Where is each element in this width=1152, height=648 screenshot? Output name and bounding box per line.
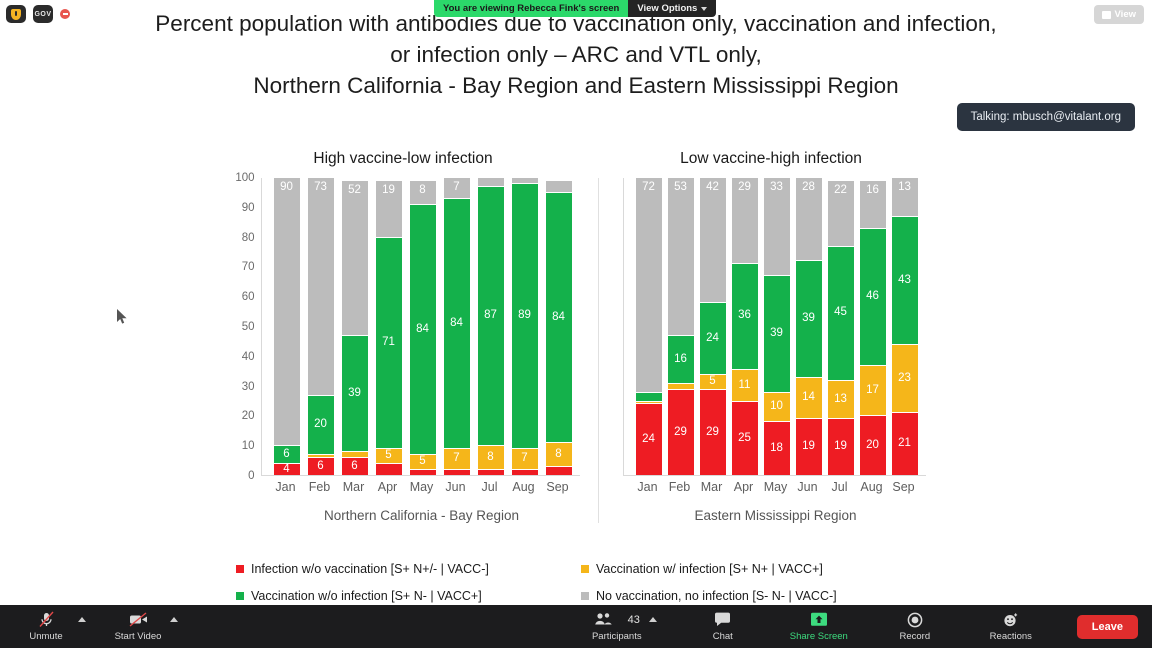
bar-value-label: 28 [802,182,815,194]
participants-button[interactable]: 43 Participants [587,611,647,642]
legend-label: Vaccination w/ infection [S+ N+ | VACC+] [596,562,823,576]
bar-segment: 8 [478,445,504,469]
bar-segment: 89 [512,183,538,448]
title-line-2: or infection only – ARC and VTL only, [80,39,1072,70]
bar-value-label: 22 [834,185,847,197]
bar-value-label: 73 [314,182,327,194]
bar-segment: 24 [700,302,726,374]
bar-value-label: 13 [898,182,911,194]
view-button[interactable]: View [1094,5,1144,24]
bar-value-label: 46 [866,291,879,303]
bar-value-label: 19 [382,185,395,197]
x-axis-tick: May [409,480,435,494]
bar-segment: 8 [410,180,436,204]
bar-value-label: 8 [487,452,493,464]
bar-value-label: 23 [898,373,911,385]
start-video-label: Start Video [115,631,162,642]
bar-segment: 16 [860,180,886,228]
chat-label: Chat [713,631,733,642]
bar-segment: 5 [376,448,402,463]
start-video-button[interactable]: Start Video [108,611,168,642]
bar-segment: 20 [860,415,886,475]
bar-segment: 22 [828,180,854,246]
chat-icon [714,611,731,628]
bar-stack[interactable]: 4224529 [700,177,726,475]
legend-swatch-icon [581,592,589,600]
floating-badges: GOV [6,5,70,23]
x-axis: JanFebMarAprMayJunJulAugSep [273,480,580,494]
x-axis-label: Eastern Mississippi Region [635,508,917,523]
bar-value-label: 5 [419,456,425,468]
chart-panels: High vaccine-low infection01020304050607… [0,150,1152,523]
bar-value-label: 71 [382,337,395,349]
legend-item: Vaccination w/ infection [S+ N+ | VACC+] [581,562,926,576]
x-axis-tick: Aug [511,480,537,494]
legend-label: Vaccination w/o infection [S+ N- | VACC+… [251,589,482,603]
y-axis-tick: 70 [242,261,255,273]
bar-value-label: 33 [770,182,783,194]
legend-label: Infection w/o vaccination [S+ N+/- | VAC… [251,562,489,576]
bar-segment: 11 [732,369,758,401]
bar-stack[interactable]: 29361125 [732,177,758,475]
bar-value-label: 18 [770,443,783,455]
bar-value-label: 7 [453,453,459,465]
view-button-label: View [1115,9,1136,20]
record-icon [907,611,923,628]
legend-label: No vaccination, no infection [S- N- | VA… [596,589,837,603]
bar-segment: 13 [892,177,918,216]
bar-value-label: 20 [866,440,879,452]
y-axis-tick: 40 [242,351,255,363]
bar-value-label: 84 [552,312,565,324]
bar-segment: 7 [444,177,470,198]
x-axis-tick: Jul [827,480,853,494]
bar-stack[interactable]: 73206 [308,177,334,475]
bar-segment: 71 [376,237,402,449]
bar-value-label: 20 [314,419,327,431]
bar-stack[interactable]: 19715 [376,177,402,475]
bar-stack[interactable]: 16461720 [860,177,886,475]
grid-view-icon [1102,11,1111,19]
bar-value-label: 25 [738,433,751,445]
bar-segment: 72 [636,177,662,392]
bar-value-label: 39 [348,388,361,400]
screen-share-banner: You are viewing Rebecca Fink's screen Vi… [434,0,716,17]
bar-segment: 4 [274,463,300,475]
bar-stack[interactable]: 7847 [444,177,470,475]
participants-icon: 43 [594,611,640,628]
recording-indicator-icon[interactable] [60,9,70,19]
bar-segment: 43 [892,216,918,344]
camera-off-icon [129,611,148,628]
legend-item: Vaccination w/o infection [S+ N- | VACC+… [236,589,581,603]
bar-segment: 87 [478,186,504,445]
y-axis-tick: 10 [242,440,255,452]
gov-badge-label: GOV [34,11,51,18]
bar-value-label: 13 [834,394,847,406]
bar-stack[interactable]: 878 [478,177,504,475]
bar-segment: 36 [732,263,758,369]
bar-segment: 52 [342,180,368,335]
y-axis-tick: 60 [242,291,255,303]
x-axis-tick: Mar [341,480,367,494]
x-axis-tick: Apr [375,480,401,494]
bar-segment: 7 [444,448,470,469]
screen-share-slide: GOV You are viewing Rebecca Fink's scree… [0,0,1152,648]
y-axis: 0102030405060708090100 [227,178,261,476]
legend-item: Infection w/o vaccination [S+ N+/- | VAC… [236,562,581,576]
reactions-label: Reactions [990,631,1032,642]
bar-value-label: 19 [802,441,815,453]
bar-value-label: 84 [450,318,463,330]
unmute-button[interactable]: Unmute [16,611,76,642]
chart-panel-1: High vaccine-low infection01020304050607… [227,150,580,523]
bar-stack[interactable]: 897 [512,177,538,475]
legend-item: No vaccination, no infection [S- N- | VA… [581,589,926,603]
bar-segment: 73 [308,177,334,395]
y-axis-tick: 0 [248,470,254,482]
bar-stack[interactable]: 9064 [274,177,300,475]
bar-segment: 29 [668,389,694,475]
chart-legend: Infection w/o vaccination [S+ N+/- | VAC… [0,562,1152,603]
x-axis-tick: Apr [731,480,757,494]
share-screen-button[interactable]: Share Screen [789,611,849,642]
video-options-chevron-icon[interactable] [170,617,178,622]
bar-value-label: 24 [706,333,719,345]
bar-value-label: 52 [348,185,361,197]
bar-value-label: 17 [866,385,879,397]
bar-value-label: 7 [453,182,459,194]
bar-value-label: 89 [518,310,531,322]
reactions-button[interactable]: Reactions [981,611,1041,642]
bar-segment: 13 [828,380,854,419]
bar-segment: 10 [764,392,790,422]
bar-segment: 20 [308,395,334,455]
bar-segment: 84 [444,198,470,448]
leave-button[interactable]: Leave [1077,615,1138,639]
bar-segment: 45 [828,246,854,380]
bar-segment: 53 [668,177,694,335]
bar-value-label: 29 [674,427,687,439]
security-shield-badge[interactable] [6,5,26,23]
bar-value-label: 90 [280,182,293,194]
bar-value-label: 42 [706,182,719,194]
bar-value-label: 11 [739,380,751,392]
x-axis-tick: Jun [795,480,821,494]
bar-segment: 18 [764,421,790,475]
bar-stack[interactable]: 7224 [636,177,662,475]
bar-segment: 23 [892,344,918,413]
view-options-label: View Options [637,3,697,14]
bar-stack[interactable]: 531629 [668,177,694,475]
legend-swatch-icon [581,565,589,573]
bar-segment: 39 [342,335,368,451]
title-line-3: Northern California - Bay Region and Eas… [80,70,1072,101]
bar-segment [546,180,572,192]
bar-segment: 5 [410,454,436,469]
bar-value-label: 45 [834,307,847,319]
x-axis-tick: Aug [859,480,885,494]
bar-value-label: 6 [283,449,289,461]
bar-value-label: 84 [416,324,429,336]
legend-swatch-icon [236,592,244,600]
microphone-muted-icon [38,611,55,628]
panel-divider [598,178,599,523]
bar-segment: 90 [274,177,300,445]
chart-title: Low vaccine-high infection [617,150,926,168]
plot-area: 7224531629422452929361125333910182839141… [623,178,926,476]
y-axis-tick: 20 [242,410,255,422]
audio-options-chevron-icon[interactable] [78,617,86,622]
chart-title: High vaccine-low infection [227,150,580,168]
bar-value-label: 53 [674,182,687,194]
bar-value-label: 16 [674,354,687,366]
x-axis-tick: Feb [307,480,333,494]
chat-button[interactable]: Chat [693,611,753,642]
unmute-label: Unmute [29,631,62,642]
charts-area: High vaccine-low infection01020304050607… [0,150,1152,523]
view-options-button[interactable]: View Options [628,0,716,17]
bar-segment: 39 [764,275,790,391]
bar-segment: 21 [892,412,918,475]
bar-segment: 19 [796,418,822,475]
bar-segment [376,463,402,475]
y-axis-tick: 90 [242,202,255,214]
bar-segment: 24 [636,403,662,475]
chart-panel-2: Low vaccine-high infection72245316294224… [617,150,926,523]
bar-value-label: 8 [555,449,561,461]
bar-value-label: 87 [484,310,497,322]
x-axis-tick: Jun [443,480,469,494]
bar-segment: 16 [668,335,694,383]
bar-stack[interactable]: 13432321 [892,177,918,475]
bar-value-label: 16 [866,185,879,197]
bar-value-label: 21 [898,438,911,450]
bar-value-label: 14 [802,392,815,404]
bar-segment [478,469,504,475]
bar-value-label: 5 [709,376,715,388]
bar-stack[interactable]: 848 [546,177,572,475]
reactions-icon [1003,611,1019,628]
shield-icon [11,9,21,20]
bar-value-label: 36 [738,310,751,322]
share-screen-icon [808,611,830,628]
x-axis-tick: Sep [891,480,917,494]
x-axis-tick: Jan [273,480,299,494]
y-axis-tick: 50 [242,321,255,333]
bar-segment: 6 [274,445,300,463]
x-axis-tick: Feb [667,480,693,494]
bar-value-label: 39 [770,328,783,340]
bar-segment: 19 [376,180,402,237]
bar-segment: 84 [546,192,572,442]
bar-segment [512,469,538,475]
bar-segment: 8 [546,442,572,466]
bar-segment: 7 [512,448,538,469]
bar-value-label: 6 [317,461,323,473]
bar-value-label: 24 [642,434,655,446]
zoom-toolbar: Unmute Start Video 4 [0,605,1152,648]
bar-segment: 25 [732,401,758,475]
bar-value-label: 29 [706,427,719,439]
bar-stack[interactable]: 22451319 [828,177,854,475]
bar-segment: 17 [860,365,886,416]
bar-segment: 5 [700,374,726,389]
x-axis-tick: Jan [635,480,661,494]
participants-label: Participants [592,631,642,642]
bar-stack[interactable]: 52396 [342,177,368,475]
bar-value-label: 6 [351,461,357,473]
bar-stack[interactable]: 33391018 [764,177,790,475]
bar-segment: 84 [410,204,436,454]
bar-value-label: 8 [419,185,425,197]
bar-segment: 29 [700,389,726,475]
y-axis-tick: 30 [242,381,255,393]
x-axis-tick: Jul [477,480,503,494]
bar-value-label: 5 [385,450,391,462]
x-axis: JanFebMarAprMayJunJulAugSep [635,480,926,494]
bar-value-label: 43 [898,275,911,287]
bar-segment [444,469,470,475]
gov-badge[interactable]: GOV [33,5,53,23]
bar-segment [546,466,572,475]
bar-segment: 14 [796,377,822,419]
bar-segment: 46 [860,228,886,365]
talking-toast: Talking: mbusch@vitalant.org [957,103,1135,131]
bar-segment: 6 [342,457,368,475]
chevron-down-icon [701,7,707,11]
plot-area: 906473206523961971588457847878897848 [261,178,580,476]
legend-swatch-icon [236,565,244,573]
bar-value-label: 4 [283,464,289,476]
viewing-message: You are viewing Rebecca Fink's screen [434,0,628,17]
bar-value-label: 19 [834,441,847,453]
bar-value-label: 29 [738,182,751,194]
bar-value-label: 72 [642,182,655,194]
y-axis-tick: 80 [242,232,255,244]
x-axis-tick: Mar [699,480,725,494]
bar-stack[interactable]: 8845 [410,177,436,475]
share-screen-label: Share Screen [790,631,848,642]
participants-count: 43 [628,614,640,626]
record-label: Record [899,631,930,642]
page-title: Percent population with antibodies due t… [0,8,1152,101]
bar-value-label: 7 [521,453,527,465]
record-button[interactable]: Record [885,611,945,642]
bar-segment: 6 [308,457,334,475]
bar-stack[interactable]: 28391419 [796,177,822,475]
bar-segment [478,177,504,186]
bar-segment: 39 [796,260,822,376]
bar-segment [636,392,662,401]
y-axis-tick: 100 [235,172,254,184]
bar-segment [410,469,436,475]
bar-value-label: 39 [802,313,815,325]
bar-segment: 33 [764,177,790,275]
x-axis-tick: Sep [545,480,571,494]
bar-segment: 29 [732,177,758,263]
x-axis-label: Northern California - Bay Region [273,508,571,523]
participants-chevron-icon[interactable] [649,617,657,622]
x-axis-tick: May [763,480,789,494]
bar-segment: 42 [700,177,726,302]
bar-segment: 19 [828,418,854,475]
bar-value-label: 10 [770,401,783,413]
bar-segment: 28 [796,177,822,260]
